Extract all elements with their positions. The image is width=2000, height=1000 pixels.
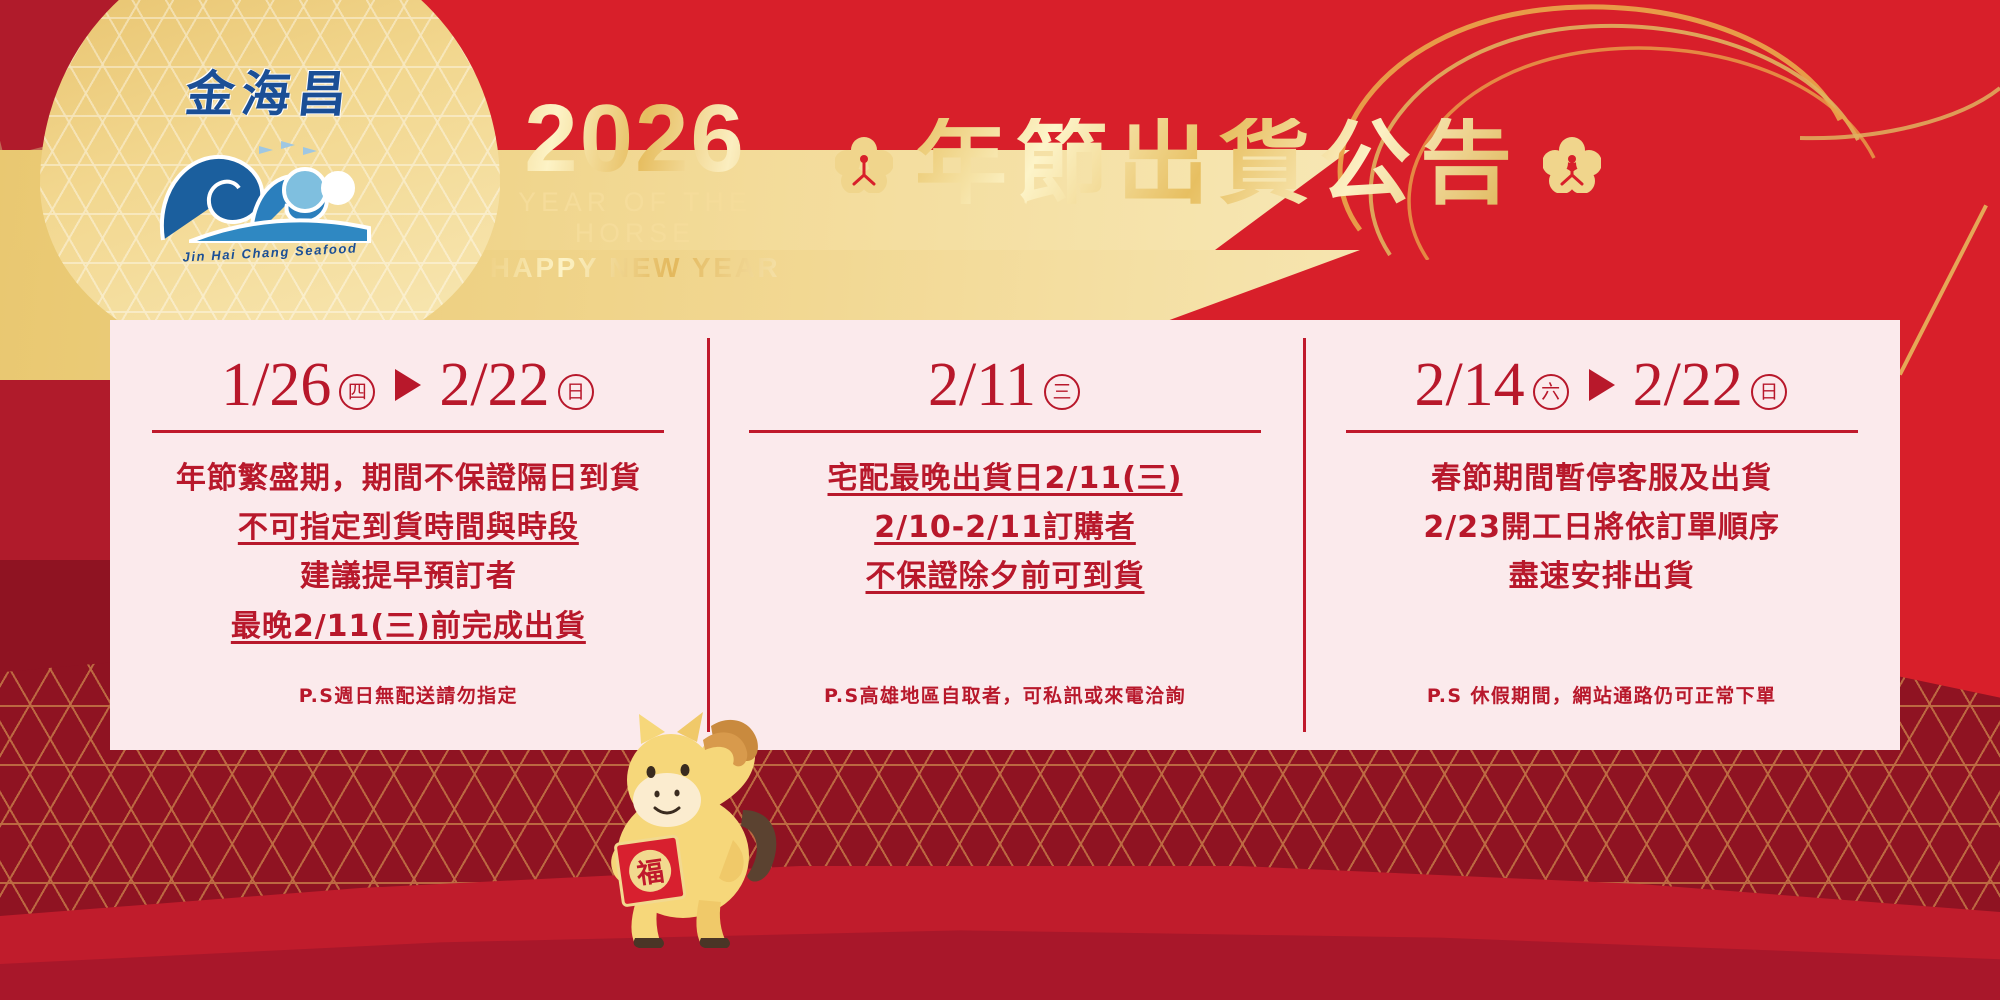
announcement-cards: 1/26 四 2/22 日 年節繁盛期，期間不保證隔日到貨 不可指定到貨時間與時… (110, 320, 1900, 750)
happy-new-year-text: HAPPY NEW YEAR (455, 252, 815, 284)
plum-blossom-icon-right (1543, 135, 1601, 193)
horse-mascot: 福 (575, 660, 805, 950)
card-1-line-1: 年節繁盛期，期間不保證隔日到貨 (136, 459, 681, 499)
card-1-line-4: 最晚2/11(三)前完成出貨 (136, 607, 681, 647)
card-2-line-3: 不保證除夕前可到貨 (733, 557, 1278, 597)
card-2-date-header: 2/11 三 (733, 354, 1278, 416)
card-2-line-2: 2/10-2/11訂購者 (733, 508, 1278, 548)
announcement-title: 年節出貨公告 (835, 118, 1601, 210)
card-2-day-start: 三 (1044, 374, 1080, 410)
card-1-day-end: 日 (558, 374, 594, 410)
card-3-date-start: 2/14 (1414, 354, 1524, 416)
card-1-divider (152, 430, 664, 433)
card-2-line-1: 宅配最晚出貨日2/11(三) (733, 459, 1278, 499)
card-3-line-2: 2/23開工日將依訂單順序 (1329, 508, 1874, 548)
svg-text:福: 福 (634, 856, 666, 891)
card-3-date-header: 2/14 六 2/22 日 (1329, 354, 1874, 416)
card-3-line-3: 盡速安排出貨 (1329, 557, 1874, 597)
play-triangle-icon-3 (1589, 369, 1615, 401)
card-1-line-3: 建議提早預訂者 (136, 557, 681, 597)
card-1-body: 年節繁盛期，期間不保證隔日到貨 不可指定到貨時間與時段 建議提早預訂者 最晚2/… (136, 459, 681, 647)
card-1-date-end: 2/22 (439, 354, 549, 416)
card-3-body: 春節期間暫停客服及出貨 2/23開工日將依訂單順序 盡速安排出貨 (1329, 459, 1874, 598)
card-2-divider (749, 430, 1261, 433)
year-number: 2026 (455, 95, 815, 183)
year-of-the-horse-text: YEAR OF THE HORSE (455, 187, 815, 249)
card-1-line-2: 不可指定到貨時間與時段 (136, 508, 681, 548)
card-1-date-start: 1/26 (221, 354, 331, 416)
card-2-body: 宅配最晚出貨日2/11(三) 2/10-2/11訂購者 不保證除夕前可到貨 (733, 459, 1278, 598)
play-triangle-icon (395, 369, 421, 401)
brand-name-cn: 金海昌 (116, 55, 423, 126)
card-3-date-end: 2/22 (1633, 354, 1743, 416)
announcement-title-text: 年節出貨公告 (915, 118, 1521, 210)
year-block: 2026 YEAR OF THE HORSE HAPPY NEW YEAR (455, 95, 815, 284)
card-period-3: 2/14 六 2/22 日 春節期間暫停客服及出貨 2/23開工日將依訂單順序 … (1303, 320, 1900, 750)
card-1-date-header: 1/26 四 2/22 日 (136, 354, 681, 416)
wave-logo-icon (155, 128, 385, 243)
new-year-shipping-announcement-banner: 金海昌 Jin Hai Chang Seafood 2026 YEAR OF T… (0, 0, 2000, 1000)
card-3-line-1: 春節期間暫停客服及出貨 (1329, 459, 1874, 499)
brand-logo: 金海昌 Jin Hai Chang Seafood (120, 55, 420, 295)
plum-blossom-icon (835, 135, 893, 193)
card-2-date-start: 2/11 (928, 354, 1036, 416)
card-3-day-end: 日 (1751, 374, 1787, 410)
card-3-divider (1346, 430, 1858, 433)
card-3-ps-note: P.S 休假期間，網站通路仍可正常下單 (1303, 681, 1900, 708)
card-3-day-start: 六 (1533, 374, 1569, 410)
card-1-day-start: 四 (339, 374, 375, 410)
